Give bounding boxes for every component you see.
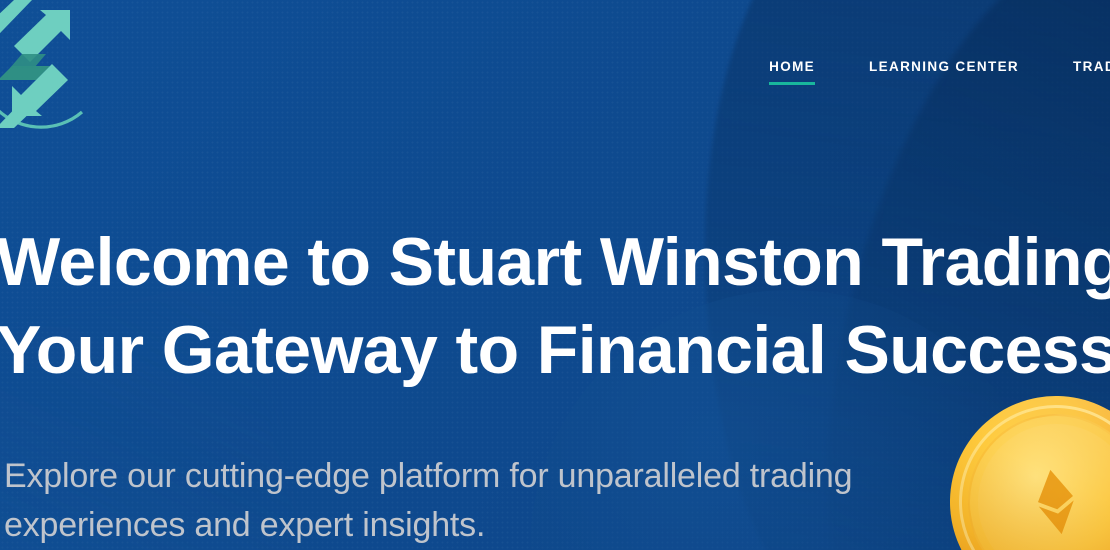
hero-subcopy: Explore our cutting-edge platform for un… <box>4 452 1004 550</box>
main-navigation: HOME LEARNING CENTER TRADING <box>0 58 1110 85</box>
hero-banner: HOME LEARNING CENTER TRADING Welcome to … <box>0 0 1110 550</box>
hero-headline-line-1: Welcome to Stuart Winston Trading <box>0 218 1110 306</box>
hero-headline: Welcome to Stuart Winston Trading Your G… <box>0 218 1110 394</box>
nav-item-home[interactable]: HOME <box>769 58 815 85</box>
nav-item-learning-center[interactable]: LEARNING CENTER <box>869 58 1019 85</box>
nav-item-trading[interactable]: TRADING <box>1073 58 1110 85</box>
hero-headline-line-2: Your Gateway to Financial Success <box>0 306 1110 394</box>
hero-subcopy-line-2: experiences and expert insights. <box>4 501 1004 550</box>
hero-subcopy-line-1: Explore our cutting-edge platform for un… <box>4 452 1004 501</box>
